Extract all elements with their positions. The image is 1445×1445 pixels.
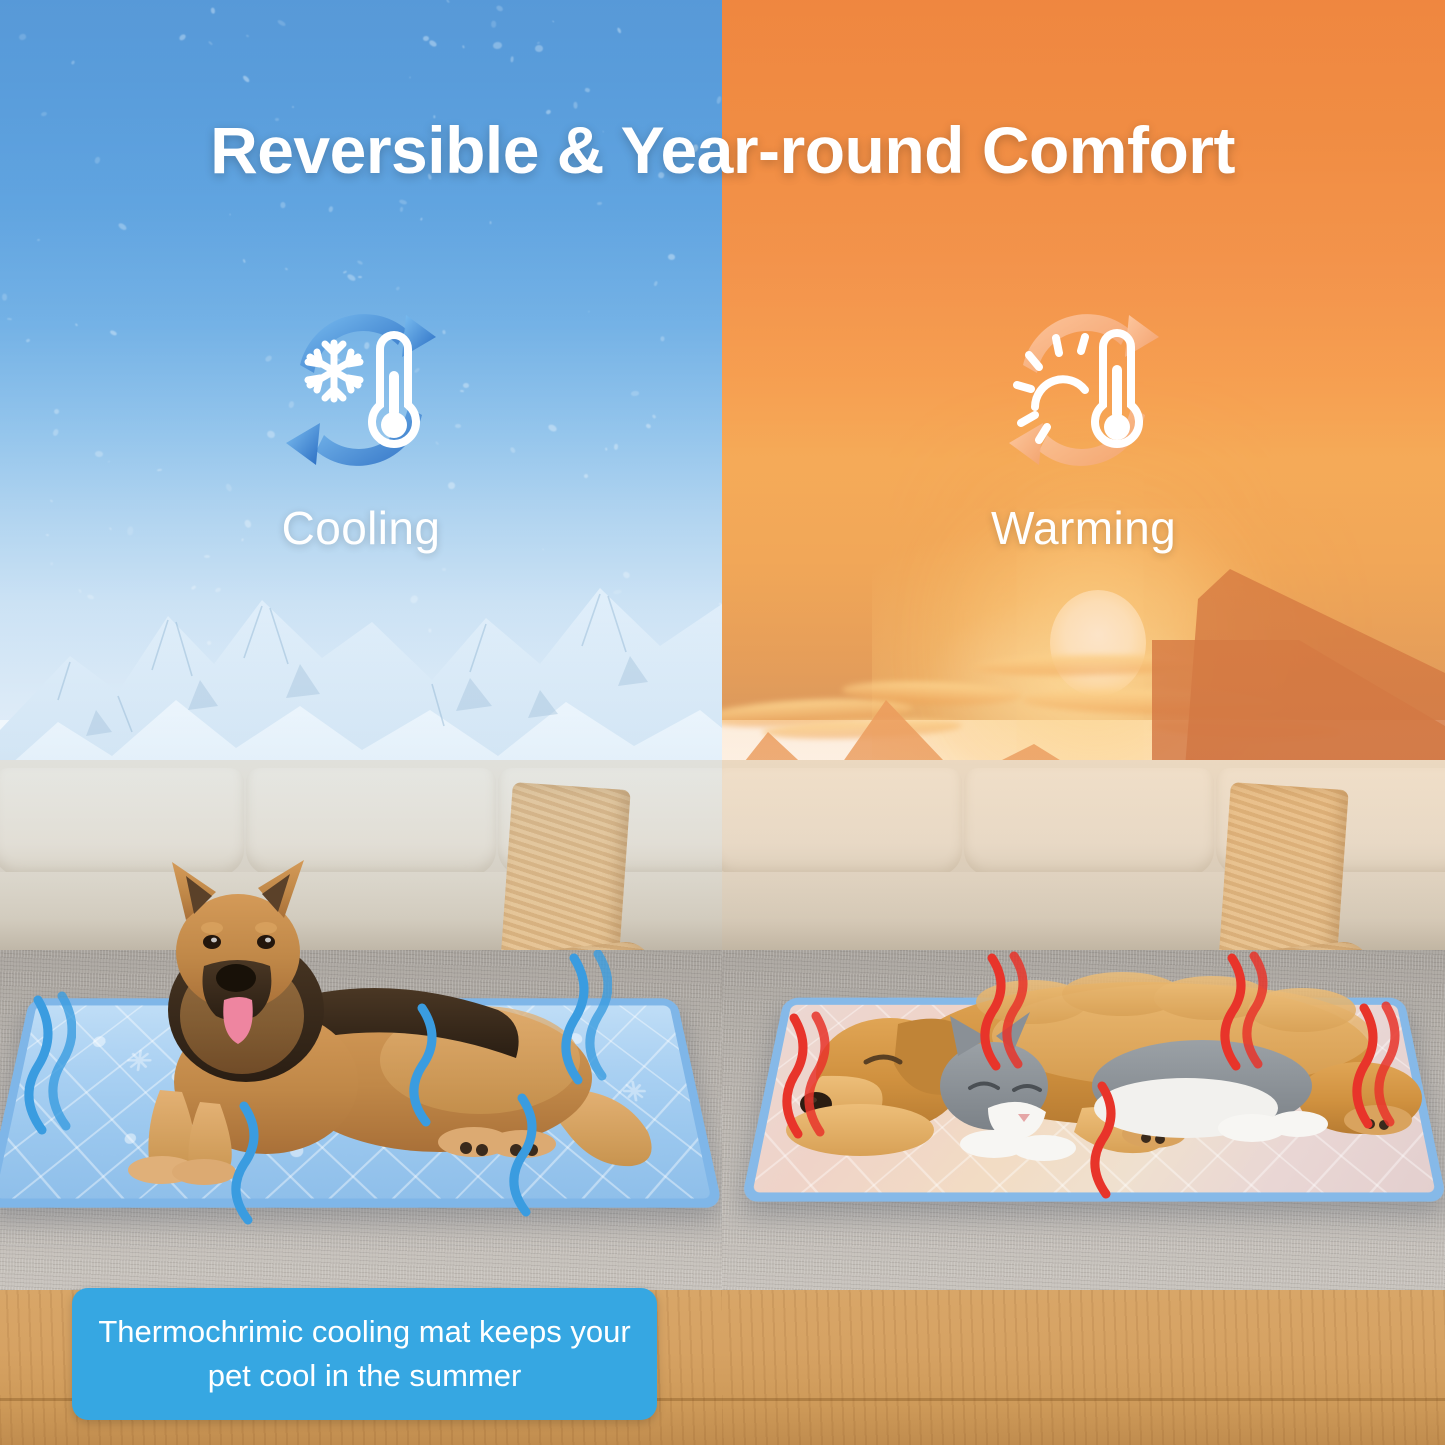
snow-flake [346,274,356,283]
snow-flake [429,39,438,47]
heat-wave [1090,1078,1134,1204]
snow-flake [573,102,578,109]
snow-flake [178,34,186,42]
snow-flake [328,205,334,212]
snow-flake [420,217,423,221]
snow-flake [489,221,491,225]
snow-flake [229,213,230,215]
snow-flake [491,21,496,28]
snow-flake [423,36,430,42]
product-feature-image: Cooling Thermochrimic cooling mat keeps … [0,0,1445,1445]
heat-wave [980,950,1028,1076]
snow-flake [400,207,404,212]
snow-flake [584,88,589,93]
heat-wave [1220,950,1268,1076]
snow-flake [537,41,540,44]
cool-air-wave [230,1098,278,1228]
snow-flake [535,45,544,52]
snow-flake [281,202,286,208]
cooling-panel: Cooling Thermochrimic cooling mat keeps … [0,0,722,1445]
snow-flake [246,34,250,37]
cooling-caption: Thermochrimic cooling mat keeps your pet… [72,1288,657,1420]
snow-flake [357,259,364,265]
snow-flake [208,41,213,46]
snow-flake [495,4,504,12]
snow-flake [211,8,216,15]
snow-flake [446,0,450,3]
warming-panel: Warming Warming mat to warm up your pet … [722,0,1445,1445]
snowflake-thermometer-cycle-icon [256,285,466,495]
heat-wave [782,1010,830,1142]
cool-air-wave [560,950,612,1090]
snow-flake [552,20,555,23]
page-title: Reversible & Year-round Comfort [0,112,1445,188]
cool-air-wave [24,990,76,1140]
snow-flake [617,27,623,34]
snow-flake [409,76,410,78]
snow-flake [277,19,287,27]
snow-flake [668,253,676,260]
snow-flake [37,239,40,242]
cooling-icon-block: Cooling [0,285,722,555]
wood-floor-warm [722,1290,1445,1445]
snow-flake [243,258,247,263]
snow-flake [716,96,722,105]
snow-flake [597,201,602,204]
snow-flake [71,60,76,65]
snow-flake [358,276,362,278]
heat-wave [1352,1000,1400,1132]
sun-thermometer-cycle-icon [979,285,1189,495]
warming-icon-block: Warming [722,285,1445,555]
snow-flake [18,33,26,41]
snow-flake [492,41,501,49]
cooling-mode-label: Cooling [0,501,722,555]
warming-mode-label: Warming [722,501,1445,555]
snow-flake [241,75,250,84]
cool-air-wave [508,1090,556,1220]
snow-flake [398,199,407,206]
snow-flake [292,106,294,108]
cool-air-wave [408,1000,456,1130]
snow-flake [463,45,466,49]
snow-flake [118,222,128,231]
snow-flake [510,56,513,62]
snow-flake [204,555,210,558]
snow-flake [285,267,288,270]
